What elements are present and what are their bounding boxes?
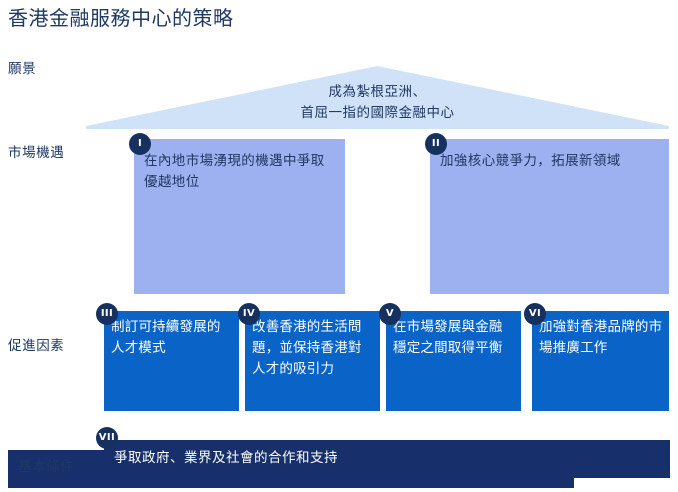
row-label-market-opportunity: 市場機遇	[8, 144, 64, 162]
enabler-5-text: 在市場發展與金融穩定之間取得平衡	[393, 317, 515, 359]
row-label-enablers: 促進因素	[8, 337, 64, 355]
roof-vision-shape: 成為紮根亞洲、 首屈一指的國際金融中心	[86, 66, 669, 129]
pillar-market-opportunity-1[interactable]: 在內地市場湧現的機遇中爭取優越地位	[134, 139, 345, 294]
foundation-text: 爭取政府、業界及社會的合作和支持	[114, 448, 660, 469]
enabler-block-5[interactable]: 在市場發展與金融穩定之間取得平衡	[386, 311, 521, 411]
badge-numeral-v: V	[379, 303, 401, 325]
pillar-market-opportunity-2[interactable]: 加強核心競爭力，拓展新領域	[430, 139, 669, 294]
enabler-6-text: 加強對香港品牌的市場推廣工作	[539, 317, 663, 359]
page-title: 香港金融服務中心的策略	[8, 4, 234, 32]
enabler-block-6[interactable]: 加強對香港品牌的市場推廣工作	[532, 311, 669, 411]
roof-triangle-icon	[86, 66, 669, 129]
badge-numeral-vii: VII	[96, 427, 118, 449]
enabler-4-text: 改善香港的生活問題，並保持香港對人才的吸引力	[252, 317, 374, 380]
badge-numeral-iii: III	[96, 303, 118, 325]
strategy-house-diagram: 香港金融服務中心的策略 願景 市場機遇 促進因素 基本條件 成為紮根亞洲、 首屈…	[0, 0, 678, 492]
badge-numeral-i: I	[129, 133, 151, 155]
row-label-vision: 願景	[8, 60, 36, 78]
pillar-2-text: 加強核心競爭力，拓展新領域	[440, 151, 659, 172]
foundation-bar[interactable]: 爭取政府、業界及社會的合作和支持	[104, 440, 670, 478]
enabler-block-3[interactable]: 制訂可持續發展的人才模式	[104, 311, 239, 411]
enabler-block-4[interactable]: 改善香港的生活問題，並保持香港對人才的吸引力	[245, 311, 380, 411]
pillar-1-text: 在內地市場湧現的機遇中爭取優越地位	[144, 151, 335, 193]
badge-numeral-vi: VI	[524, 303, 546, 325]
enabler-3-text: 制訂可持續發展的人才模式	[111, 317, 233, 359]
badge-numeral-iv: IV	[238, 303, 260, 325]
badge-numeral-ii: II	[425, 133, 447, 155]
